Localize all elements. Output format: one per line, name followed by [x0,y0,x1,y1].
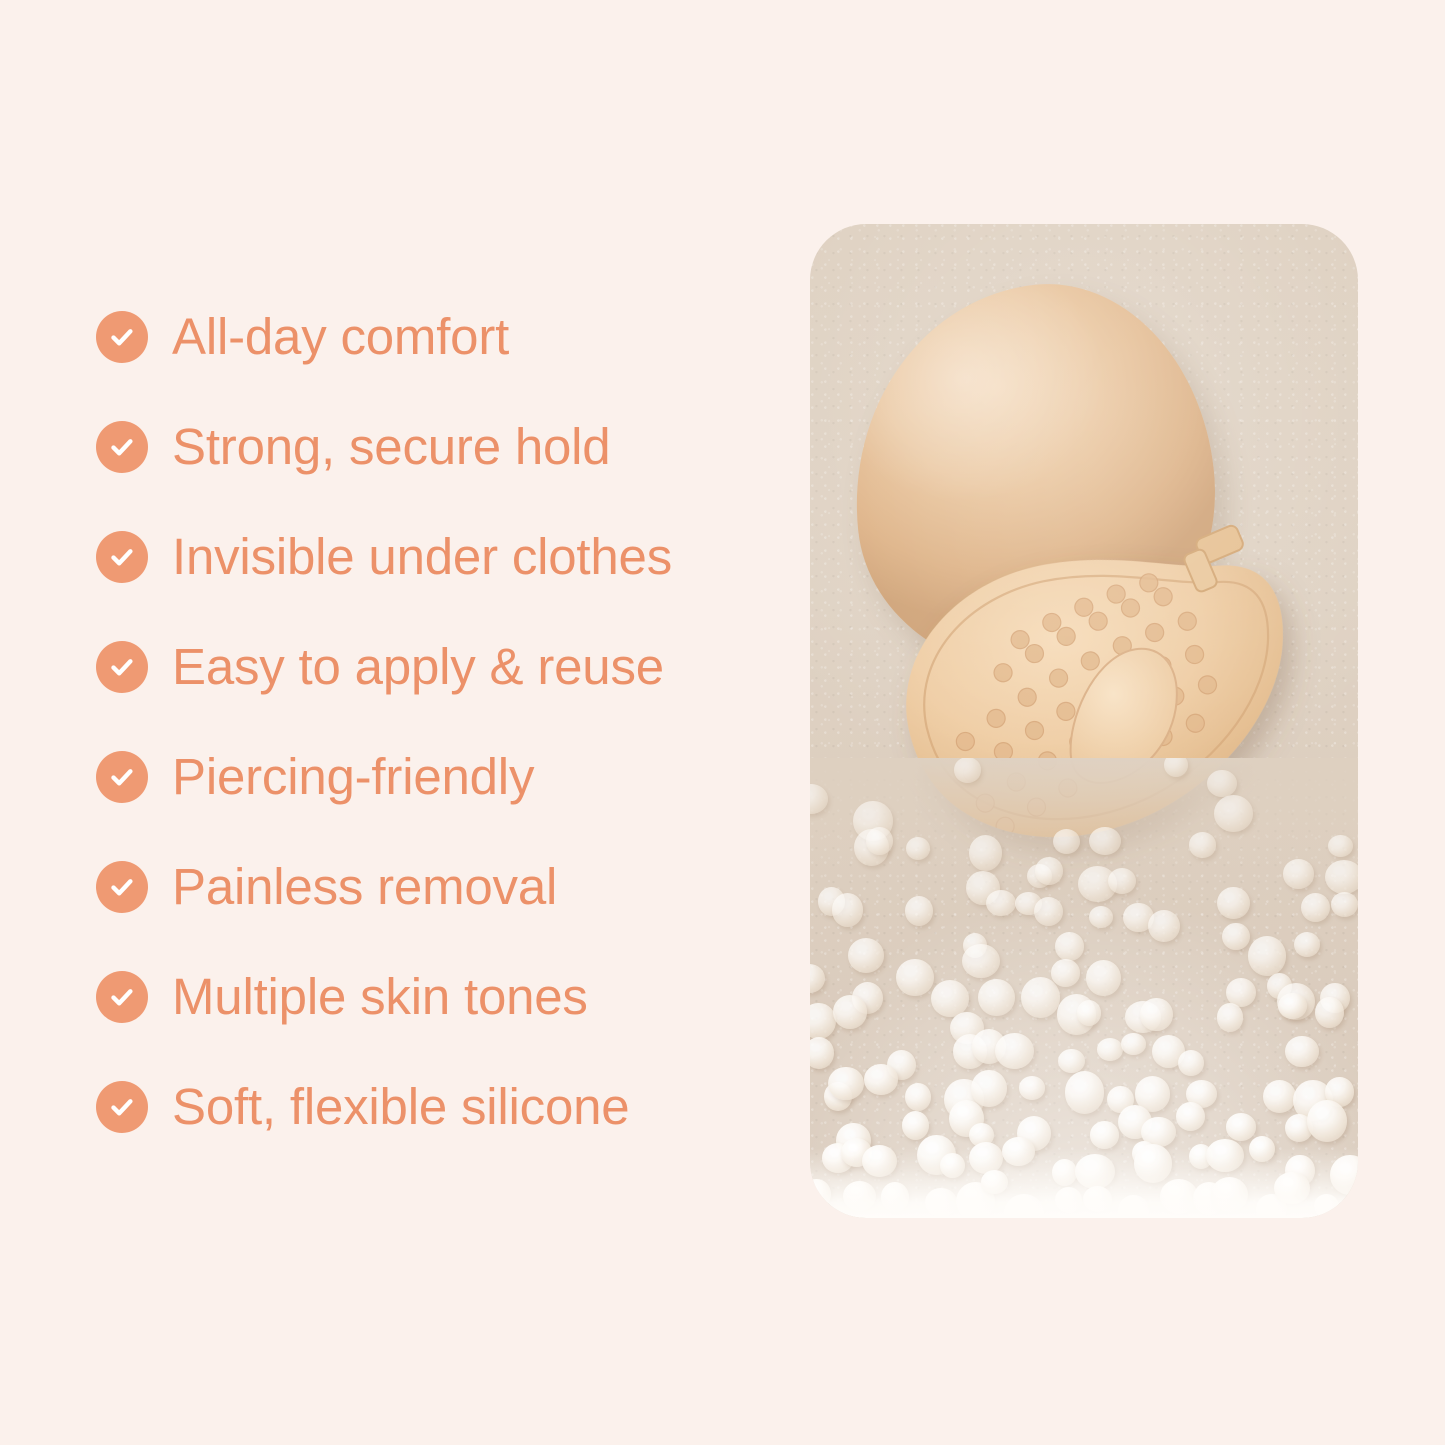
benefit-label: Invisible under clothes [172,531,672,583]
list-item: Strong, secure hold [96,421,756,473]
check-circle-icon [96,751,148,803]
check-circle-icon [96,971,148,1023]
list-item: Soft, flexible silicone [96,1081,756,1133]
list-item: All-day comfort [96,311,756,363]
check-circle-icon [96,531,148,583]
benefit-label: Painless removal [172,861,557,913]
benefit-label: Piercing-friendly [172,751,534,803]
list-item: Invisible under clothes [96,531,756,583]
check-circle-icon [96,1081,148,1133]
benefit-label: Soft, flexible silicone [172,1081,629,1133]
check-circle-icon [96,421,148,473]
card-vignette [810,224,1358,1218]
benefit-label: Strong, secure hold [172,421,610,473]
benefit-label: Multiple skin tones [172,971,588,1023]
check-circle-icon [96,861,148,913]
list-item: Piercing-friendly [96,751,756,803]
benefit-label: All-day comfort [172,311,509,363]
check-circle-icon [96,641,148,693]
list-item: Easy to apply & reuse [96,641,756,693]
product-image-card [810,224,1358,1218]
list-item: Painless removal [96,861,756,913]
benefits-list: All-day comfort Strong, secure hold Invi… [96,311,756,1133]
check-circle-icon [96,311,148,363]
benefit-label: Easy to apply & reuse [172,641,664,693]
list-item: Multiple skin tones [96,971,756,1023]
